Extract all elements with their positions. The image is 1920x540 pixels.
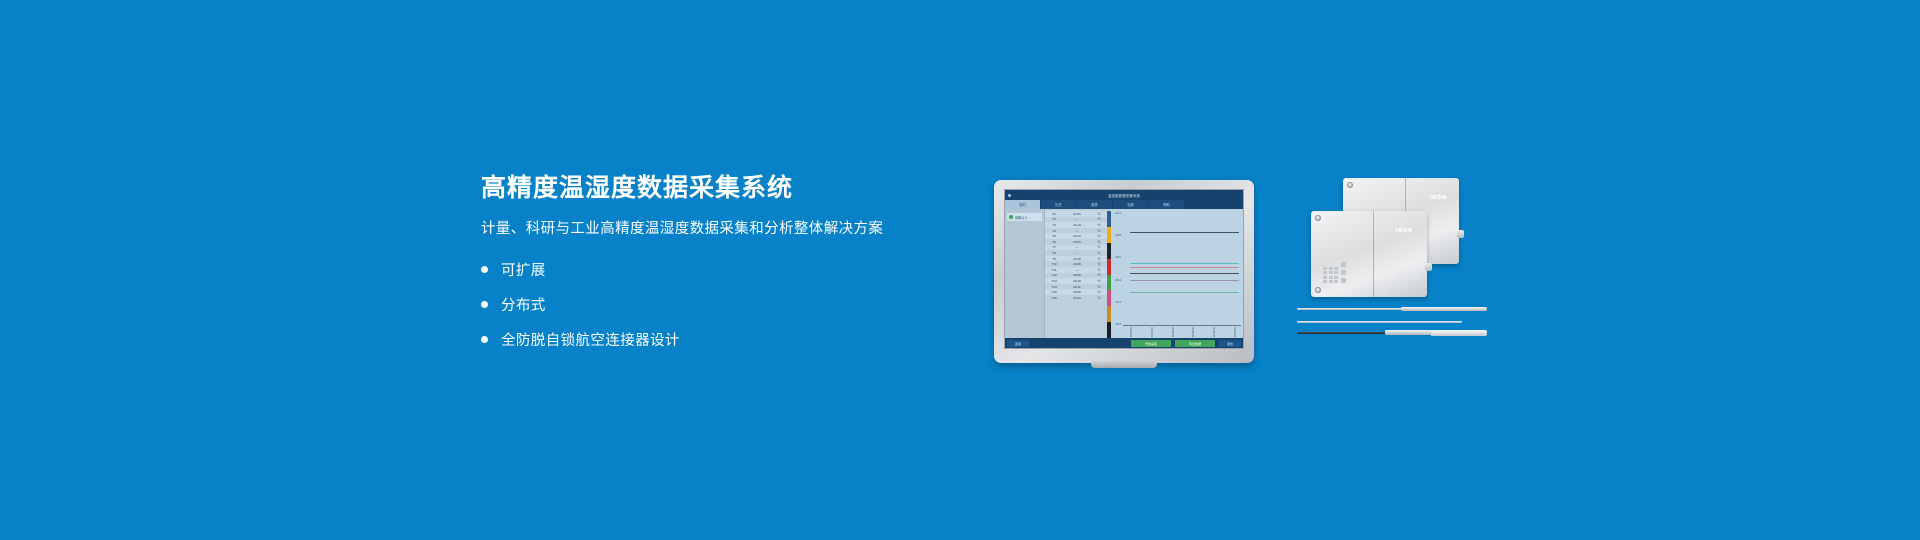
x-tick-label: 09:10:00 xyxy=(1151,327,1158,337)
list-item: 全防脱自锁航空连接器设计 xyxy=(481,329,951,350)
connector-port xyxy=(1425,263,1432,271)
device-product-images: INON INON xyxy=(1297,178,1487,353)
panel-seam xyxy=(1373,211,1374,297)
cell-channel: T11 xyxy=(1046,268,1062,272)
tab-strip-filler xyxy=(1185,200,1243,209)
chart-y-axis: 21.020.820.620.420.220.0 xyxy=(1111,211,1122,326)
app-body: 采集仪 1 T121.81℃T2---℃T320.19℃T4---℃T520.1… xyxy=(1005,209,1243,338)
cell-value: 20.61 xyxy=(1062,240,1092,244)
screw-icon xyxy=(1315,287,1321,293)
cell-channel: T16 xyxy=(1046,296,1062,300)
tab-settings[interactable]: 设置 xyxy=(1113,200,1148,209)
screw-icon xyxy=(1347,182,1353,188)
brand-label: INON xyxy=(1430,195,1447,201)
cell-value: 21.81 xyxy=(1062,212,1092,216)
table-row[interactable]: T2---℃ xyxy=(1045,217,1107,223)
feature-label: 全防脱自锁航空连接器设计 xyxy=(501,329,680,350)
tab-history[interactable]: 历史 xyxy=(1041,200,1076,209)
y-tick-label: 20.8 xyxy=(1111,233,1121,237)
cell-channel: T1 xyxy=(1046,212,1062,216)
x-tick-label: 09:50:00 xyxy=(1234,327,1241,337)
device-tree-panel: 采集仪 1 xyxy=(1005,209,1045,338)
terminal-block-array xyxy=(1323,262,1346,283)
screw-icon xyxy=(1315,215,1321,221)
cell-unit: ℃ xyxy=(1092,268,1106,272)
start-acquisition-button[interactable]: 开始采集 xyxy=(1131,340,1171,347)
app-footer-bar: 连接 开始采集 导出数据 退出 xyxy=(1005,338,1243,348)
table-row[interactable]: T1620.94℃ xyxy=(1045,295,1107,301)
list-item: 可扩展 xyxy=(481,259,951,280)
terminal-grid xyxy=(1323,267,1338,284)
cell-channel: T14 xyxy=(1046,285,1062,289)
probe-cable xyxy=(1297,332,1389,334)
x-tick-label: 09:20:00 xyxy=(1172,327,1179,337)
app-title-bar: 温湿度数据采集系统 xyxy=(1005,190,1243,200)
chart-x-axis: 09:00:0009:10:0009:20:0009:30:0009:40:00… xyxy=(1123,325,1241,338)
cell-channel: T13 xyxy=(1046,279,1062,283)
cell-unit: ℃ xyxy=(1092,245,1106,249)
cell-value: --- xyxy=(1062,217,1092,221)
bullet-icon xyxy=(481,301,488,308)
cell-unit: ℃ xyxy=(1092,262,1106,266)
bullet-icon xyxy=(481,336,488,343)
cell-channel: T5 xyxy=(1046,234,1062,238)
trend-chart: 21.020.820.620.420.220.0 09:00:0009:10:0… xyxy=(1111,209,1243,338)
cell-unit: ℃ xyxy=(1092,234,1106,238)
cell-value: --- xyxy=(1062,245,1092,249)
hero-banner: 高精度温湿度数据采集系统 计量、科研与工业高精度温湿度数据采集和分析整体解决方案… xyxy=(0,0,1920,540)
probe-handle xyxy=(1421,307,1487,311)
brand-label: INON xyxy=(1396,228,1413,234)
cell-value: --- xyxy=(1062,229,1092,233)
chart-series-line xyxy=(1130,263,1239,264)
table-row[interactable]: T8---℃ xyxy=(1045,250,1107,256)
temperature-probe-metal xyxy=(1297,306,1487,312)
table-row[interactable]: T1520.90℃ xyxy=(1045,289,1107,295)
cell-channel: T6 xyxy=(1046,240,1062,244)
x-tick-label: 09:40:00 xyxy=(1213,327,1220,337)
cell-unit: ℃ xyxy=(1092,212,1106,216)
probe-shaft xyxy=(1297,308,1405,310)
page-title: 高精度温湿度数据采集系统 xyxy=(481,175,951,203)
cell-value: --- xyxy=(1062,251,1092,255)
tab-realtime[interactable]: 实时 xyxy=(1005,200,1040,209)
feature-label: 分布式 xyxy=(501,294,546,315)
exit-button[interactable]: 退出 xyxy=(1219,340,1241,347)
probe-ferrule xyxy=(1401,307,1423,311)
cell-channel: T3 xyxy=(1046,223,1062,227)
cell-unit: ℃ xyxy=(1092,290,1106,294)
chart-series-line xyxy=(1130,267,1239,268)
monitor-screen: 温湿度数据采集系统 实时 历史 报表 设置 帮助 采集仪 1 T121.81℃T… xyxy=(1004,189,1244,349)
bullet-icon xyxy=(481,266,488,273)
cell-channel: T12 xyxy=(1046,273,1062,277)
table-row[interactable]: T1220.90℃ xyxy=(1045,273,1107,279)
table-row[interactable]: T320.19℃ xyxy=(1045,222,1107,228)
y-tick-label: 20.2 xyxy=(1111,300,1121,304)
y-tick-label: 20.0 xyxy=(1111,322,1121,326)
cell-value: --- xyxy=(1062,268,1092,272)
x-tick-label: 09:00:00 xyxy=(1130,327,1137,337)
cell-unit: ℃ xyxy=(1092,257,1106,261)
x-tick-label: 09:30:00 xyxy=(1192,327,1199,337)
hero-copy: 高精度温湿度数据采集系统 计量、科研与工业高精度温湿度数据采集和分析整体解决方案… xyxy=(481,175,951,364)
monitor-product-image: 温湿度数据采集系统 实时 历史 报表 设置 帮助 采集仪 1 T121.81℃T… xyxy=(994,180,1254,363)
cell-channel: T10 xyxy=(1046,262,1062,266)
monitor-stand xyxy=(1091,361,1157,368)
cell-channel: T15 xyxy=(1046,290,1062,294)
app-tab-strip: 实时 历史 报表 设置 帮助 xyxy=(1005,200,1243,209)
tab-help[interactable]: 帮助 xyxy=(1149,200,1184,209)
connector-port xyxy=(1457,230,1464,238)
tab-report[interactable]: 报表 xyxy=(1077,200,1112,209)
hero-subtitle: 计量、科研与工业高精度温湿度数据采集和分析整体解决方案 xyxy=(481,219,951,239)
table-row[interactable]: T4---℃ xyxy=(1045,228,1107,234)
status-online-icon xyxy=(1009,215,1013,219)
channel-table: T121.81℃T2---℃T320.19℃T4---℃T520.12℃T620… xyxy=(1045,209,1107,338)
export-data-button[interactable]: 导出数据 xyxy=(1175,340,1215,347)
chart-series-line xyxy=(1130,280,1239,281)
device-node-label: 采集仪 1 xyxy=(1015,215,1027,220)
chart-series-line xyxy=(1130,232,1239,233)
feature-list: 可扩展 分布式 全防脱自锁航空连接器设计 xyxy=(481,259,951,350)
cell-channel: T9 xyxy=(1046,257,1062,261)
chart-plot-area xyxy=(1123,211,1241,326)
cell-unit: ℃ xyxy=(1092,273,1106,277)
table-row[interactable]: T1420.11℃ xyxy=(1045,284,1107,290)
cell-value: 20.19 xyxy=(1062,223,1092,227)
table-row[interactable]: T920.38℃ xyxy=(1045,256,1107,262)
device-tree-node[interactable]: 采集仪 1 xyxy=(1007,213,1042,221)
cell-channel: T8 xyxy=(1046,251,1062,255)
y-tick-label: 21.0 xyxy=(1111,211,1121,215)
temperature-probe-connector xyxy=(1297,330,1487,336)
cell-unit: ℃ xyxy=(1092,279,1106,283)
cell-unit: ℃ xyxy=(1092,217,1106,221)
cell-value: 20.11 xyxy=(1062,285,1092,289)
table-row[interactable]: T1020.86℃ xyxy=(1045,261,1107,267)
app-title: 温湿度数据采集系统 xyxy=(1005,193,1243,198)
cell-unit: ℃ xyxy=(1092,240,1106,244)
y-tick-label: 20.6 xyxy=(1111,255,1121,259)
cell-channel: T2 xyxy=(1046,217,1062,221)
y-tick-label: 20.4 xyxy=(1111,278,1121,282)
cell-unit: ℃ xyxy=(1092,296,1106,300)
feature-label: 可扩展 xyxy=(501,259,546,280)
table-row[interactable]: T121.81℃ xyxy=(1045,211,1107,217)
connect-button[interactable]: 连接 xyxy=(1007,340,1029,347)
table-row[interactable]: T620.61℃ xyxy=(1045,239,1107,245)
table-row[interactable]: T1320.28℃ xyxy=(1045,278,1107,284)
probe-cable xyxy=(1297,321,1462,323)
aviation-connector xyxy=(1431,330,1487,336)
table-row[interactable]: T11---℃ xyxy=(1045,267,1107,273)
cell-value: 20.94 xyxy=(1062,296,1092,300)
probe-ferrule xyxy=(1399,330,1433,335)
terminal-column xyxy=(1341,262,1346,283)
cell-channel: T4 xyxy=(1046,229,1062,233)
table-row[interactable]: T7---℃ xyxy=(1045,245,1107,251)
cell-value: 20.28 xyxy=(1062,279,1092,283)
cell-unit: ℃ xyxy=(1092,223,1106,227)
cell-value: 20.90 xyxy=(1062,273,1092,277)
cell-unit: ℃ xyxy=(1092,251,1106,255)
table-row[interactable]: T520.12℃ xyxy=(1045,233,1107,239)
cell-value: 20.90 xyxy=(1062,290,1092,294)
cell-channel: T7 xyxy=(1046,245,1062,249)
cell-unit: ℃ xyxy=(1092,229,1106,233)
cell-value: 20.12 xyxy=(1062,234,1092,238)
chart-series-line xyxy=(1130,273,1239,274)
cell-value: 20.86 xyxy=(1062,262,1092,266)
list-item: 分布式 xyxy=(481,294,951,315)
cell-value: 20.38 xyxy=(1062,257,1092,261)
cell-unit: ℃ xyxy=(1092,285,1106,289)
chart-series-line xyxy=(1130,292,1239,293)
data-logger-front: INON xyxy=(1311,211,1427,297)
temperature-probe-blue-cable xyxy=(1297,319,1487,325)
